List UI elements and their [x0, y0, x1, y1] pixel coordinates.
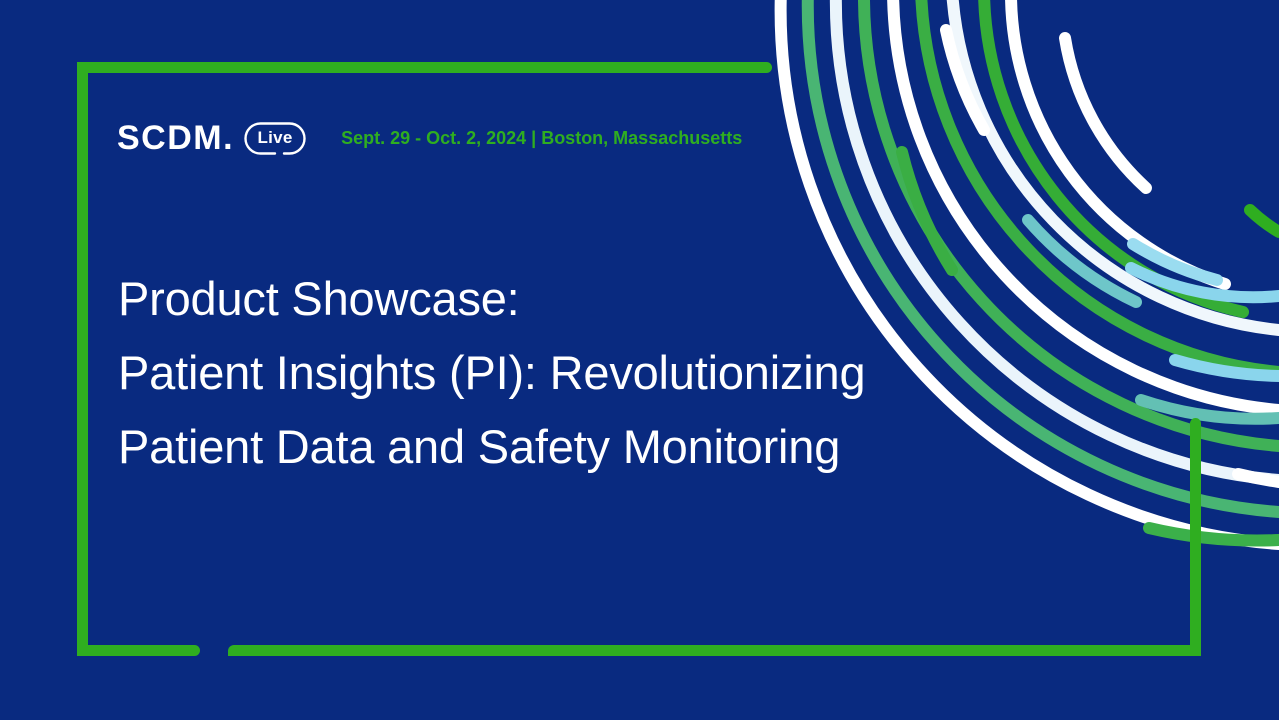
- title-line-2: Patient Insights (PI): Revolutionizing: [118, 336, 1118, 410]
- live-badge: Live: [239, 122, 311, 155]
- event-date-location: Sept. 29 - Oct. 2, 2024 | Boston, Massac…: [341, 129, 742, 147]
- scdm-logo-wordmark: SCDM.: [117, 121, 234, 155]
- arc-accent-5: [902, 152, 952, 270]
- title-line-1: Product Showcase:: [118, 262, 1118, 336]
- arc-accent-3: [946, 30, 984, 130]
- frame-border-bottom-right: [228, 645, 1201, 656]
- arc-ring-1: [1011, 0, 1225, 284]
- arc-accent-4: [1131, 268, 1279, 297]
- arc-accent-1: [1065, 38, 1146, 188]
- slide-header: SCDM. Live Sept. 29 - Oct. 2, 2024 | Bos…: [117, 114, 742, 162]
- arc-accent-11: [1175, 360, 1279, 376]
- presentation-slide: SCDM. Live Sept. 29 - Oct. 2, 2024 | Bos…: [0, 0, 1279, 720]
- frame-border-left: [77, 62, 88, 656]
- arc-accent-8: [1149, 528, 1279, 541]
- frame-border-top: [77, 62, 772, 73]
- frame-border-bottom-left: [77, 645, 200, 656]
- live-badge-label: Live: [257, 129, 292, 147]
- arc-accent-9: [1133, 244, 1217, 280]
- slide-title: Product Showcase: Patient Insights (PI):…: [118, 262, 1118, 484]
- frame-border-right: [1190, 418, 1201, 656]
- title-line-3: Patient Data and Safety Monitoring: [118, 410, 1118, 484]
- arc-accent-2: [1250, 210, 1279, 232]
- arc-accent-6: [1141, 400, 1279, 419]
- arc-accent-10: [1238, 474, 1279, 482]
